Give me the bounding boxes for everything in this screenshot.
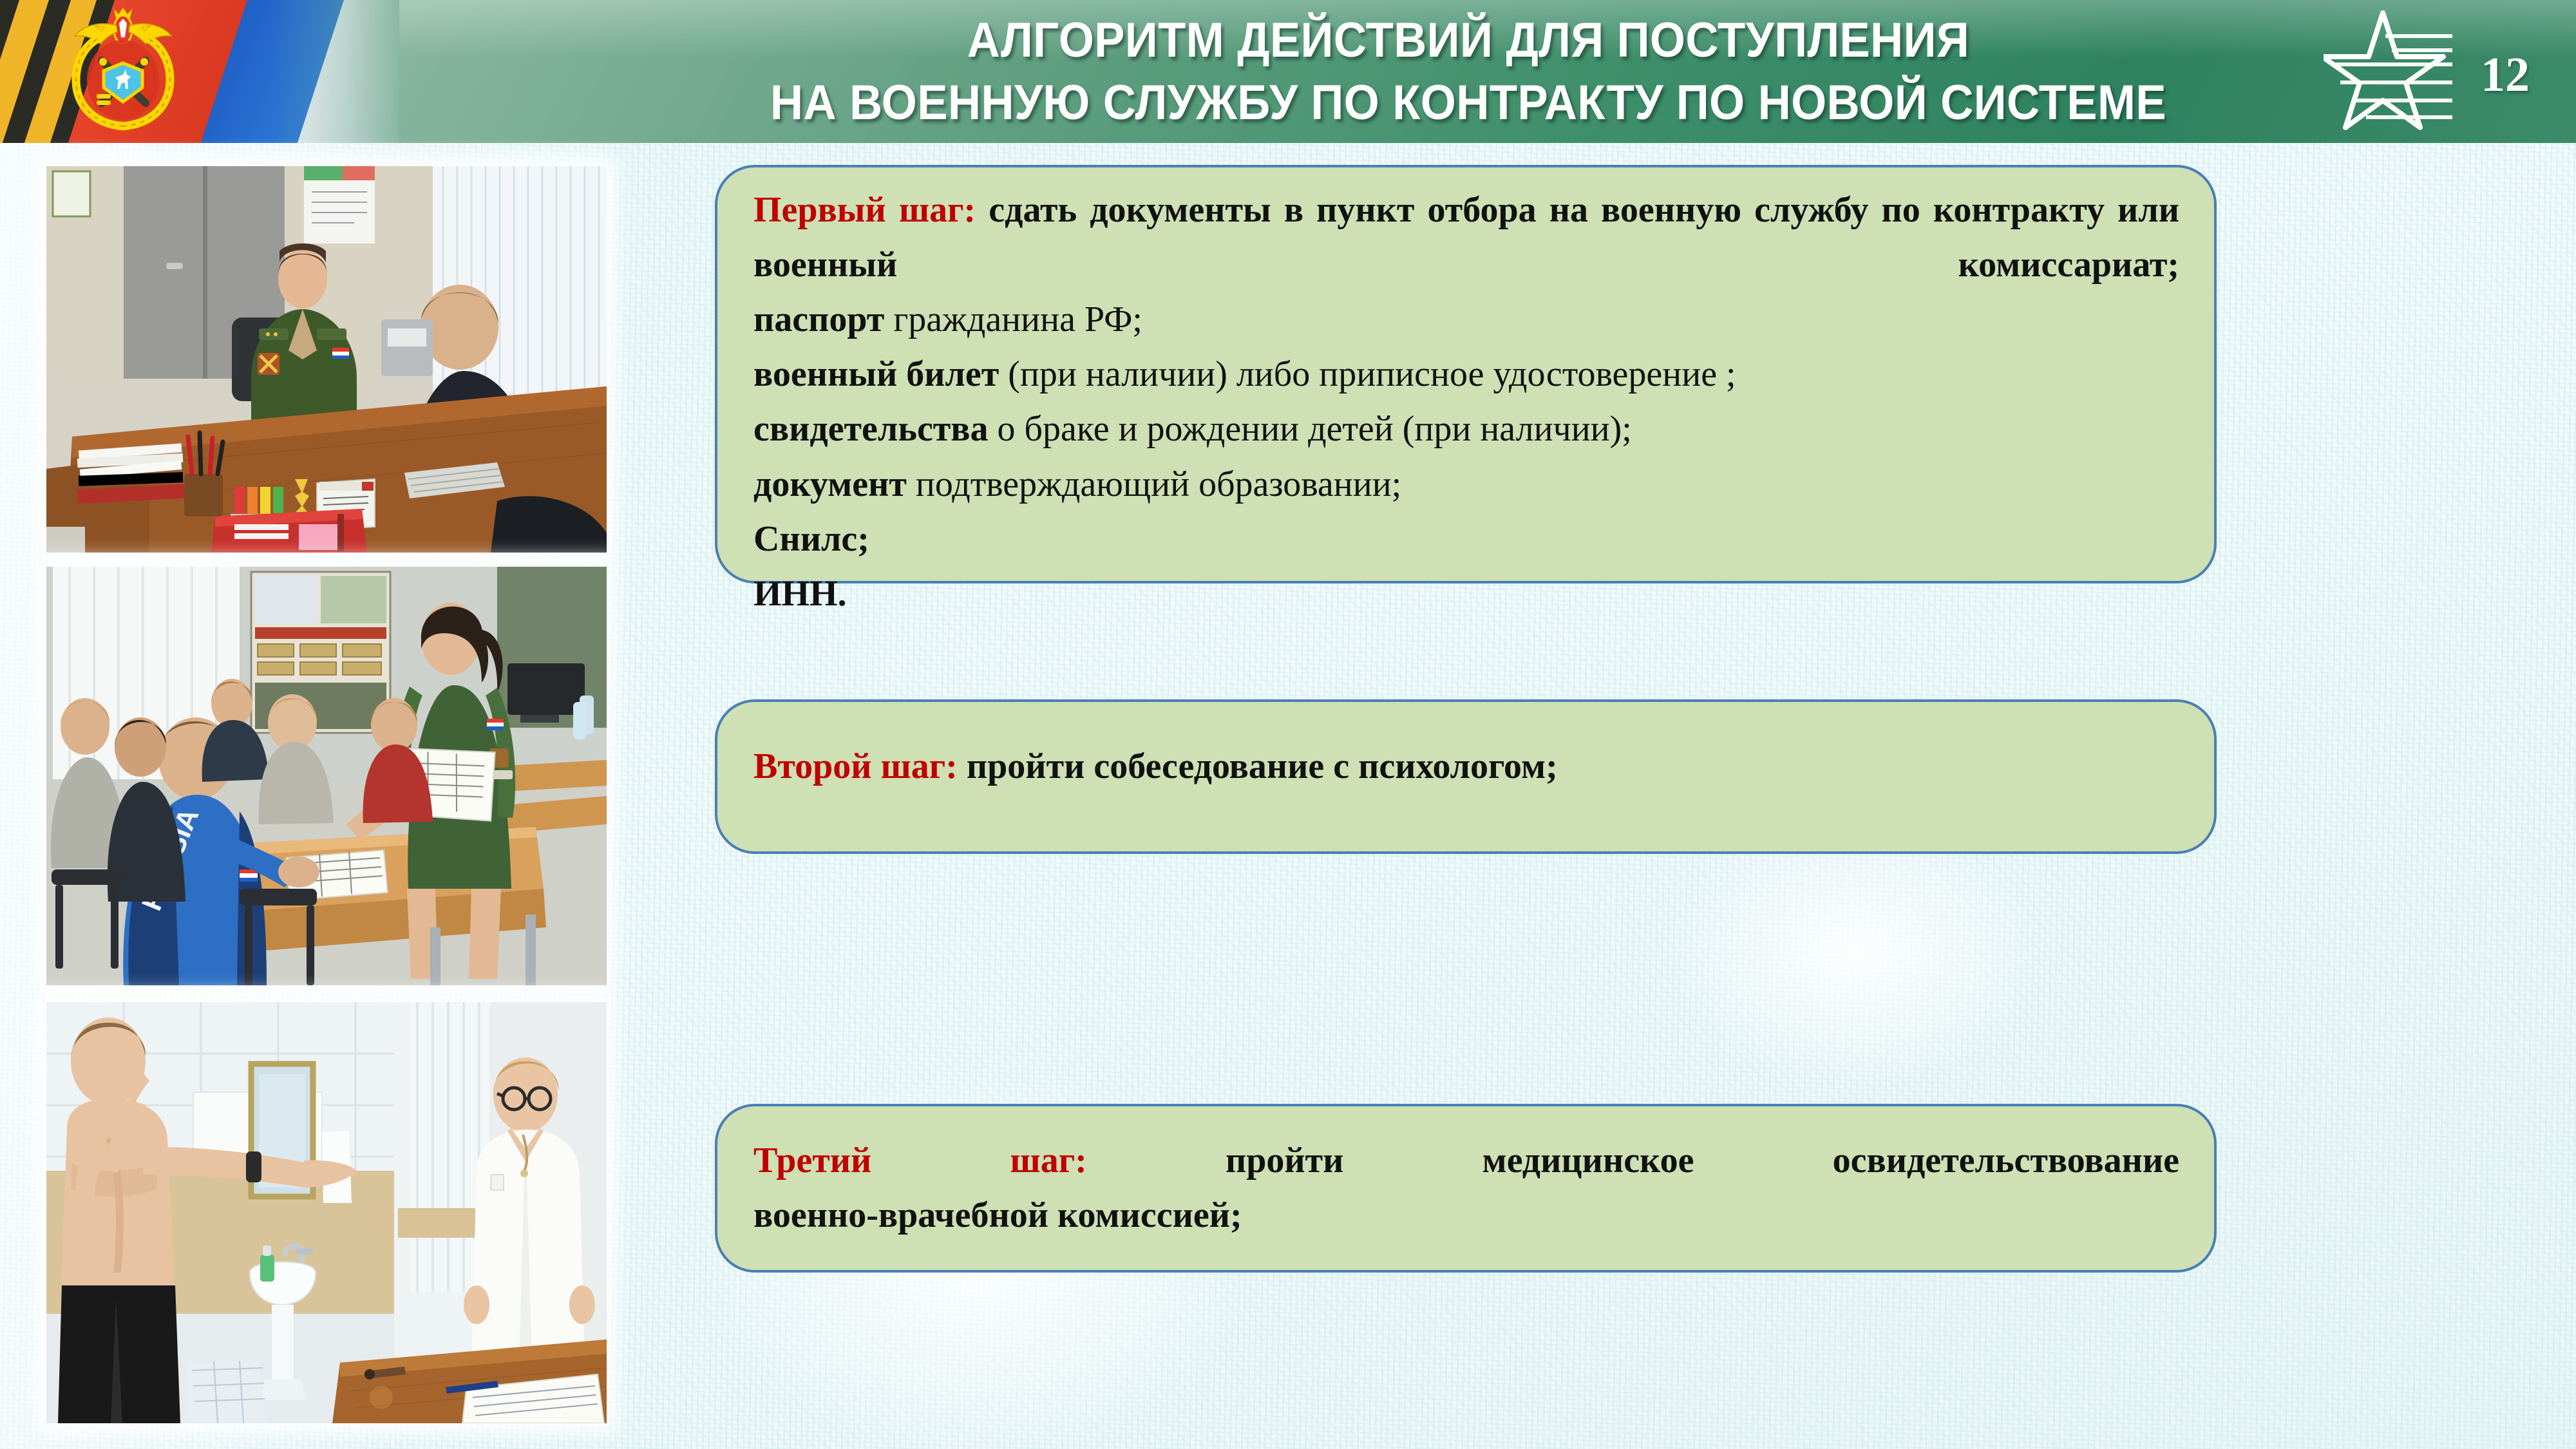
step-1-item-3-bold: свидетельства <box>753 409 989 449</box>
step-2-headline-paragraph: Второй шаг: пройти собеседование с психо… <box>753 739 2179 794</box>
photo-medical-examination <box>46 1002 607 1423</box>
step-3-text: Третий шаг: пройти медицинское освидетел… <box>753 1133 2179 1243</box>
step-3-headline-part-1: пройти медицинское освидетельствование <box>1226 1141 2179 1180</box>
page-title-line-2: НА ВОЕННУЮ СЛУЖБУ ПО КОНТРАКТУ ПО НОВОЙ … <box>737 71 2199 134</box>
step-1-item-1-rest: гражданина РФ; <box>884 299 1142 339</box>
step-3-lead: Третий шаг: <box>753 1141 1087 1180</box>
step-3-headline-line-1: Третий шаг: пройти медицинское освидетел… <box>753 1133 2179 1188</box>
step-1-item-2-rest: (при наличии) либо приписное удостоверен… <box>999 354 1736 394</box>
step-2-text: Второй шаг: пройти собеседование с психо… <box>753 739 2179 794</box>
step-1-text: Первый шаг: сдать документы в пункт отбо… <box>753 183 2179 621</box>
step-3-headline-part-2: военно-врачебной комиссией; <box>753 1195 1242 1235</box>
page-title: АЛГОРИТМ ДЕЙСТВИЙ ДЛЯ ПОСТУПЛЕНИЯ НА ВОЕ… <box>737 9 2199 135</box>
slide-canvas: АЛГОРИТМ ДЕЙСТВИЙ ДЛЯ ПОСТУПЛЕНИЯ НА ВОЕ… <box>0 0 2576 1449</box>
step-1-item-2-bold: военный билет <box>753 354 999 394</box>
step-box-1: Первый шаг: сдать документы в пункт отбо… <box>715 165 2217 583</box>
photo-psychological-testing-classroom: RUSSIA <box>46 567 607 985</box>
step-1-item-6: ИНН. <box>753 567 2179 621</box>
page-number: 12 <box>2481 50 2530 99</box>
russian-ministry-of-defense-emblem-icon <box>55 4 191 139</box>
step-1-item-4-bold: документ <box>753 464 907 504</box>
slide-header: АЛГОРИТМ ДЕЙСТВИЙ ДЛЯ ПОСТУПЛЕНИЯ НА ВОЕ… <box>0 0 2576 143</box>
step-1-item-1: паспорт гражданина РФ; <box>753 292 2179 347</box>
army-star-logo-icon <box>2324 10 2452 133</box>
step-box-2: Второй шаг: пройти собеседование с психо… <box>715 699 2217 854</box>
step-1-item-5-bold: Снилс; <box>753 519 869 559</box>
step-1-lead: Первый шаг: <box>753 190 976 230</box>
step-1-item-6-bold: ИНН. <box>753 574 847 614</box>
step-1-item-3-rest: о браке и рождении детей (при наличии); <box>989 409 1632 449</box>
step-1-headline-paragraph: Первый шаг: сдать документы в пункт отбо… <box>753 183 2179 292</box>
step-box-3: Третий шаг: пройти медицинское освидетел… <box>715 1104 2217 1273</box>
step-2-lead: Второй шаг: <box>753 746 958 786</box>
step-1-item-4-rest: подтверждающий образовании; <box>907 464 1401 504</box>
photo-recruitment-office-interview <box>46 166 607 553</box>
page-title-line-1: АЛГОРИТМ ДЕЙСТВИЙ ДЛЯ ПОСТУПЛЕНИЯ <box>737 9 2199 71</box>
step-1-item-1-bold: паспорт <box>753 299 884 339</box>
step-1-item-5: Снилс; <box>753 512 2179 567</box>
step-1-item-3: свидетельства о браке и рождении детей (… <box>753 402 2179 457</box>
step-2-headline: пройти собеседование с психологом; <box>967 746 1558 786</box>
step-1-item-2: военный билет (при наличии) либо приписн… <box>753 347 2179 402</box>
step-3-headline-line-2: военно-врачебной комиссией; <box>753 1188 2179 1243</box>
step-1-item-4: документ подтверждающий образовании; <box>753 457 2179 512</box>
